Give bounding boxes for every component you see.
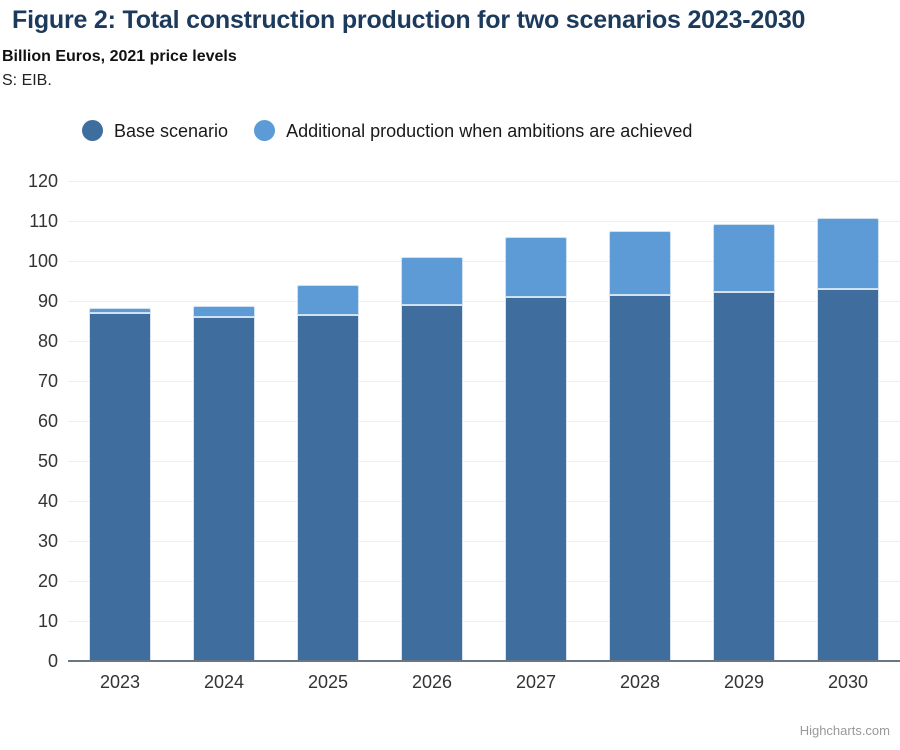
bar-segment-additional-production[interactable] — [89, 308, 151, 313]
chart-subtitle: Billion Euros, 2021 price levels — [2, 48, 237, 66]
x-axis-labels: 20232024202520262027202820292030 — [68, 672, 900, 702]
x-axis-tick-label: 2024 — [204, 672, 244, 693]
y-axis-labels: 0102030405060708090100110120 — [0, 181, 58, 661]
bar-group[interactable] — [193, 306, 255, 661]
y-axis-tick-label: 110 — [6, 212, 58, 230]
x-axis-tick-label: 2030 — [828, 672, 868, 693]
chart-title: Figure 2: Total construction production … — [12, 6, 900, 35]
legend-item-additional-production[interactable]: Additional production when ambitions are… — [254, 120, 692, 141]
y-axis-tick-label: 0 — [6, 652, 58, 670]
y-axis-tick-label: 70 — [6, 372, 58, 390]
x-axis-tick-label: 2023 — [100, 672, 140, 693]
bar-segment-additional-production[interactable] — [193, 306, 255, 317]
y-axis-tick-label: 30 — [6, 532, 58, 550]
legend-item-label: Base scenario — [114, 122, 228, 140]
bar-group[interactable] — [817, 218, 879, 661]
x-axis-tick-label: 2028 — [620, 672, 660, 693]
y-axis-tick-label: 100 — [6, 252, 58, 270]
x-axis-line — [68, 660, 900, 662]
bar-series — [68, 181, 900, 661]
bar-segment-base-scenario[interactable] — [713, 292, 775, 661]
x-axis-tick-label: 2027 — [516, 672, 556, 693]
bar-group[interactable] — [297, 285, 359, 661]
bar-segment-base-scenario[interactable] — [89, 313, 151, 661]
bar-segment-base-scenario[interactable] — [817, 289, 879, 661]
y-axis-tick-label: 80 — [6, 332, 58, 350]
chart-legend: Base scenario Additional production when… — [82, 120, 692, 141]
bar-segment-base-scenario[interactable] — [609, 295, 671, 661]
y-axis-tick-label: 60 — [6, 412, 58, 430]
bar-segment-additional-production[interactable] — [401, 257, 463, 305]
bar-segment-additional-production[interactable] — [609, 231, 671, 295]
y-axis-tick-label: 50 — [6, 452, 58, 470]
y-axis-tick-label: 20 — [6, 572, 58, 590]
y-axis-tick-label: 40 — [6, 492, 58, 510]
highcharts-credits[interactable]: Highcharts.com — [800, 723, 890, 738]
bar-segment-base-scenario[interactable] — [401, 305, 463, 661]
y-axis-tick-label: 90 — [6, 292, 58, 310]
bar-segment-base-scenario[interactable] — [193, 317, 255, 661]
y-axis-tick-label: 10 — [6, 612, 58, 630]
bar-segment-additional-production[interactable] — [817, 218, 879, 289]
bar-group[interactable] — [713, 224, 775, 661]
legend-item-base-scenario[interactable]: Base scenario — [82, 120, 228, 141]
bar-group[interactable] — [401, 257, 463, 661]
legend-swatch-icon — [254, 120, 275, 141]
bar-group[interactable] — [505, 237, 567, 661]
x-axis-tick-label: 2026 — [412, 672, 452, 693]
x-axis-tick-label: 2025 — [308, 672, 348, 693]
bar-segment-base-scenario[interactable] — [297, 315, 359, 661]
y-axis-tick-label: 120 — [6, 172, 58, 190]
chart-source-note: S: EIB. — [2, 72, 52, 90]
bar-segment-additional-production[interactable] — [505, 237, 567, 297]
legend-item-label: Additional production when ambitions are… — [286, 122, 692, 140]
bar-segment-additional-production[interactable] — [297, 285, 359, 315]
legend-swatch-icon — [82, 120, 103, 141]
bar-group[interactable] — [609, 231, 671, 661]
x-axis-tick-label: 2029 — [724, 672, 764, 693]
bar-segment-base-scenario[interactable] — [505, 297, 567, 661]
bar-group[interactable] — [89, 308, 151, 661]
plot-area — [68, 181, 900, 661]
bar-segment-additional-production[interactable] — [713, 224, 775, 292]
